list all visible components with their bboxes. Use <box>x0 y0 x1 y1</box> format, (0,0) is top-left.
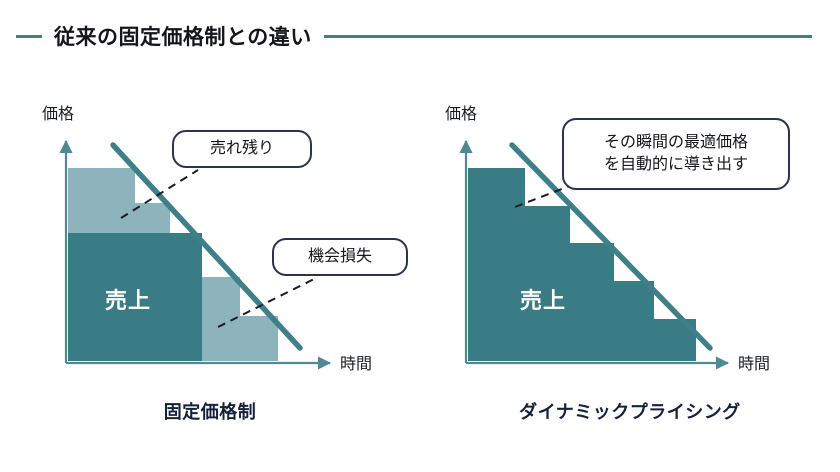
panel-fixed-pricing: 価格 時間 売上 <box>0 0 420 472</box>
callout-unsold-line-1: 売れ残り <box>210 138 274 160</box>
slide-root: 従来の固定価格制との違い 価格 時間 売上 <box>0 0 840 472</box>
panel-dynamic-pricing: 価格 時間 売上 その瞬間の最適価格 を自動的に導き出す <box>420 0 840 472</box>
bar-sales-step-5 <box>654 319 696 361</box>
bar-sales-step-3 <box>570 243 614 361</box>
caption-fixed-pricing: 固定価格制 <box>0 398 420 424</box>
bar-unsold-step-2 <box>68 203 170 233</box>
bar-opportunity-loss-step-1 <box>202 277 240 361</box>
bar-sales-step-1 <box>468 168 525 361</box>
callout-opportunity-loss-line-1: 機会損失 <box>308 246 372 268</box>
callout-optimal-price-line-1: その瞬間の最適価格 <box>604 132 748 154</box>
callout-unsold[interactable]: 売れ残り <box>172 130 312 168</box>
bar-sales-left <box>68 233 202 361</box>
caption-dynamic-pricing: ダイナミックプライシング <box>420 398 840 424</box>
callout-opportunity-loss[interactable]: 機会損失 <box>272 238 408 276</box>
bar-sales-step-2 <box>525 206 570 361</box>
callout-optimal-price-line-2: を自動的に導き出す <box>604 154 748 176</box>
callout-optimal-price[interactable]: その瞬間の最適価格 を自動的に導き出す <box>562 118 790 190</box>
bar-opportunity-loss-step-2 <box>240 316 278 361</box>
bar-sales-step-4 <box>614 281 654 361</box>
